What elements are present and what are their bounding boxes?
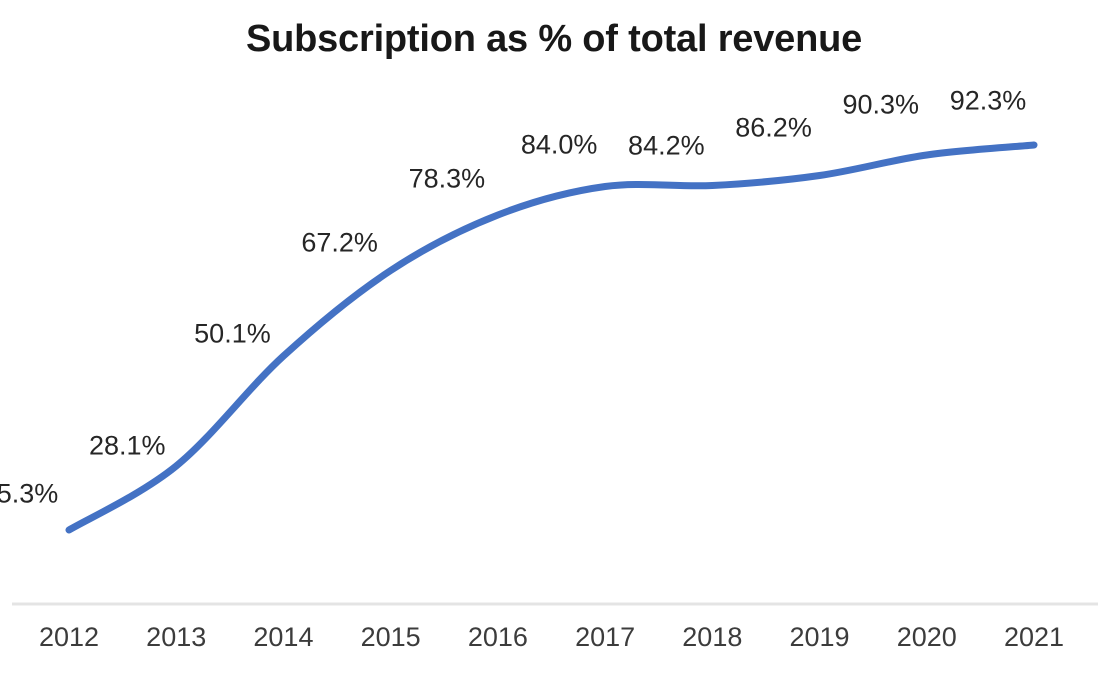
data-label-2018: 84.2% [628,130,705,161]
x-axis-label-2012: 2012 [39,622,99,653]
data-label-2016: 78.3% [409,164,486,195]
x-axis-label-2018: 2018 [682,622,742,653]
chart-canvas: Subscription as % of total revenue 15.3%… [0,0,1108,686]
x-axis-label-2017: 2017 [575,622,635,653]
x-axis-label-2020: 2020 [897,622,957,653]
x-axis-label-2016: 2016 [468,622,528,653]
data-label-2013: 28.1% [89,431,166,462]
line-chart-plot [0,0,1108,686]
data-label-2014: 50.1% [194,319,271,350]
data-label-2012: 15.3% [0,479,58,510]
x-axis-label-2019: 2019 [790,622,850,653]
data-label-2021: 92.3% [950,86,1027,117]
x-axis-label-2014: 2014 [253,622,313,653]
x-axis-label-2015: 2015 [361,622,421,653]
x-axis-label-2013: 2013 [146,622,206,653]
x-axis-label-2021: 2021 [1004,622,1064,653]
data-label-2020: 90.3% [842,90,919,121]
data-label-2015: 67.2% [301,227,378,258]
data-label-2019: 86.2% [735,112,812,143]
data-label-2017: 84.0% [521,129,598,160]
